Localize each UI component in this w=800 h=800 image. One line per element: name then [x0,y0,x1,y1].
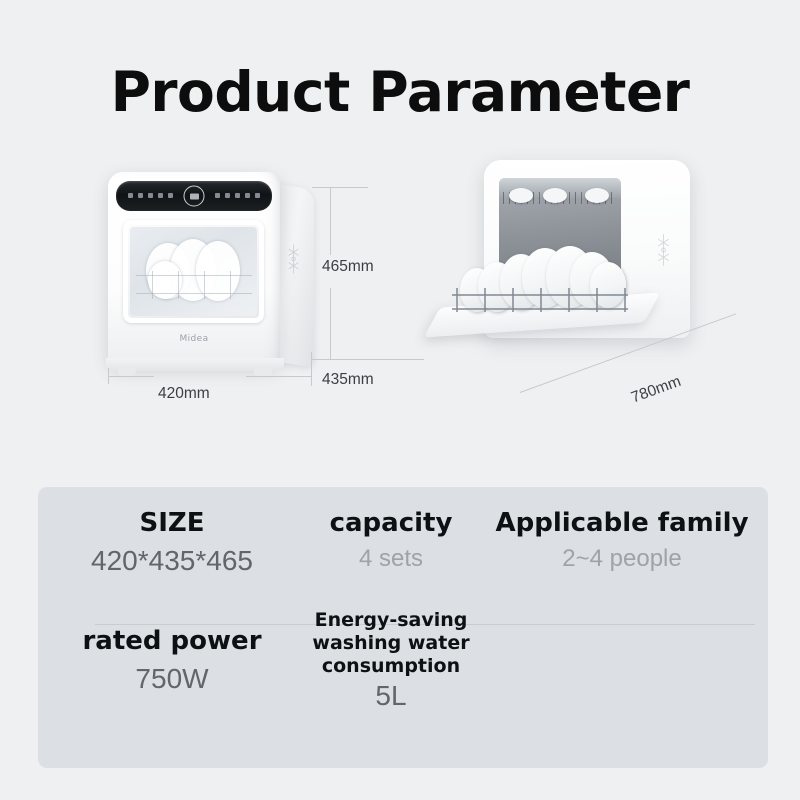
spec-value-rated-power: 750W [135,663,208,695]
spec-item-applicable-family: Applicable family 2~4 people [476,509,768,577]
basket-wire [624,288,626,312]
program-button[interactable] [138,193,143,198]
dimension-label-depth: 435mm [322,371,374,389]
dimension-tick-width-end [311,352,312,386]
brand-logo: Midea [108,334,280,344]
rack-wire [204,271,205,299]
rack-wire [152,271,153,299]
program-button[interactable] [245,193,250,198]
product-image-stage: Midea [0,140,800,480]
spec-label-water-consumption-line3: consumption [322,655,460,678]
control-panel-buttons-right[interactable] [215,193,260,198]
dimension-tick-height-top [312,187,368,188]
spec-row-1: SIZE 420*435*465 capacity 4 sets Applica… [38,509,768,577]
dishwasher-open-image [430,150,710,400]
program-button[interactable] [215,193,220,198]
spec-label-applicable-family: Applicable family [495,509,748,538]
dimension-line-width-right [246,376,312,377]
program-button[interactable] [225,193,230,198]
basket-wire [484,288,486,312]
dishwasher-closed-image: Midea [108,172,308,372]
basket-wire [596,288,598,312]
spec-item-empty [476,627,768,712]
spec-label-size: SIZE [139,509,204,538]
specifications-panel: SIZE 420*435*465 capacity 4 sets Applica… [38,487,768,768]
spec-item-water-consumption: Energy-saving washing water consumption … [306,609,476,712]
dishwasher-foot [118,368,136,376]
rack-wire [178,271,179,299]
program-button[interactable] [255,193,260,198]
spec-label-rated-power: rated power [82,627,261,656]
dimension-tick-depth [312,359,424,360]
cup [543,188,567,203]
spec-value-capacity: 4 sets [359,545,423,573]
spec-item-rated-power: rated power 750W [38,627,306,712]
spec-row-2: rated power 750W Energy-saving washing w… [38,627,768,712]
cup [585,188,609,203]
rack-wire [136,293,252,294]
snowflake-vent-icon [286,242,301,276]
basket-wire [512,288,514,312]
snowflake-vent-icon [655,232,672,268]
window-glass [130,227,257,316]
dimension-line-width-left [108,376,154,377]
dishwasher-door-window [123,220,264,323]
spec-value-size: 420*435*465 [91,545,253,577]
dishwasher-body: Midea [108,172,280,366]
spec-label-water-consumption-line1: Energy-saving [315,609,468,632]
lower-dish-basket [452,246,628,314]
program-button[interactable] [168,193,173,198]
dimension-line-height-lower [330,288,331,360]
program-button[interactable] [235,193,240,198]
dimension-tick-width-start [108,368,109,384]
dimension-label-height: 465mm [322,258,374,276]
basket-wire [540,288,542,312]
control-panel[interactable] [116,181,272,211]
rack-wire [136,275,252,276]
spec-item-size: SIZE 420*435*465 [38,509,306,577]
control-panel-buttons-left[interactable] [128,193,173,198]
basket-wire [568,288,570,312]
page-title: Product Parameter [0,60,800,124]
cup [509,188,533,203]
dimension-label-width: 420mm [158,385,210,403]
spec-item-capacity: capacity 4 sets [306,509,476,577]
program-button[interactable] [128,193,133,198]
spec-label-water-consumption-line2: washing water [312,632,469,655]
plate [196,241,240,301]
dishwasher-foot [254,368,272,376]
display-dial[interactable] [184,186,205,207]
spec-value-applicable-family: 2~4 people [562,545,681,573]
spec-value-water-consumption: 5L [375,680,406,712]
dimension-line-height-upper [330,187,331,255]
program-button[interactable] [158,193,163,198]
rack-wire [230,271,231,299]
spec-label-capacity: capacity [330,509,453,538]
basket-wire [456,288,458,312]
program-button[interactable] [148,193,153,198]
